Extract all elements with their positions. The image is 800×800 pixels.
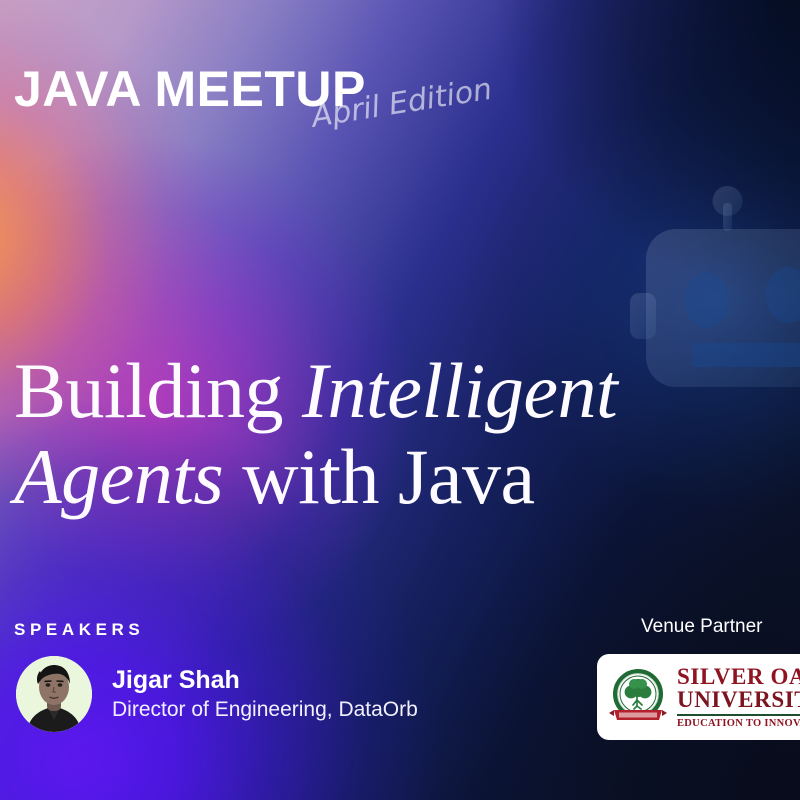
speaker-name: Jigar Shah [112, 665, 418, 696]
title-part-3: with Java [223, 433, 534, 520]
title-part-1: Building [14, 347, 302, 434]
speaker-role: Director of Engineering, DataOrb [112, 697, 418, 723]
page-title: Building Intelligent Agents with Java [14, 348, 754, 520]
wordmark-divider [677, 714, 800, 716]
university-wordmark: SILVER OAK UNIVERSITY EDUCATION TO INNOV… [677, 665, 800, 730]
venue-partner-logo-card: SILVER OAK UNIVERSITY EDUCATION TO INNOV… [597, 654, 800, 740]
university-crest-icon [607, 666, 669, 728]
university-name-line2: UNIVERSITY [677, 688, 800, 711]
speaker-details: Jigar Shah Director of Engineering, Data… [112, 665, 418, 723]
venue-partner-label: Venue Partner [641, 616, 762, 638]
speakers-section-label: SPEAKERS [14, 620, 144, 640]
avatar [16, 656, 92, 732]
event-poster: JAVA MEETUP April Edition Building Intel… [0, 0, 800, 800]
speaker-list-item: Jigar Shah Director of Engineering, Data… [16, 656, 418, 732]
university-name-line1: SILVER OAK [677, 665, 800, 688]
university-tagline: EDUCATION TO INNOVATION [677, 719, 800, 730]
